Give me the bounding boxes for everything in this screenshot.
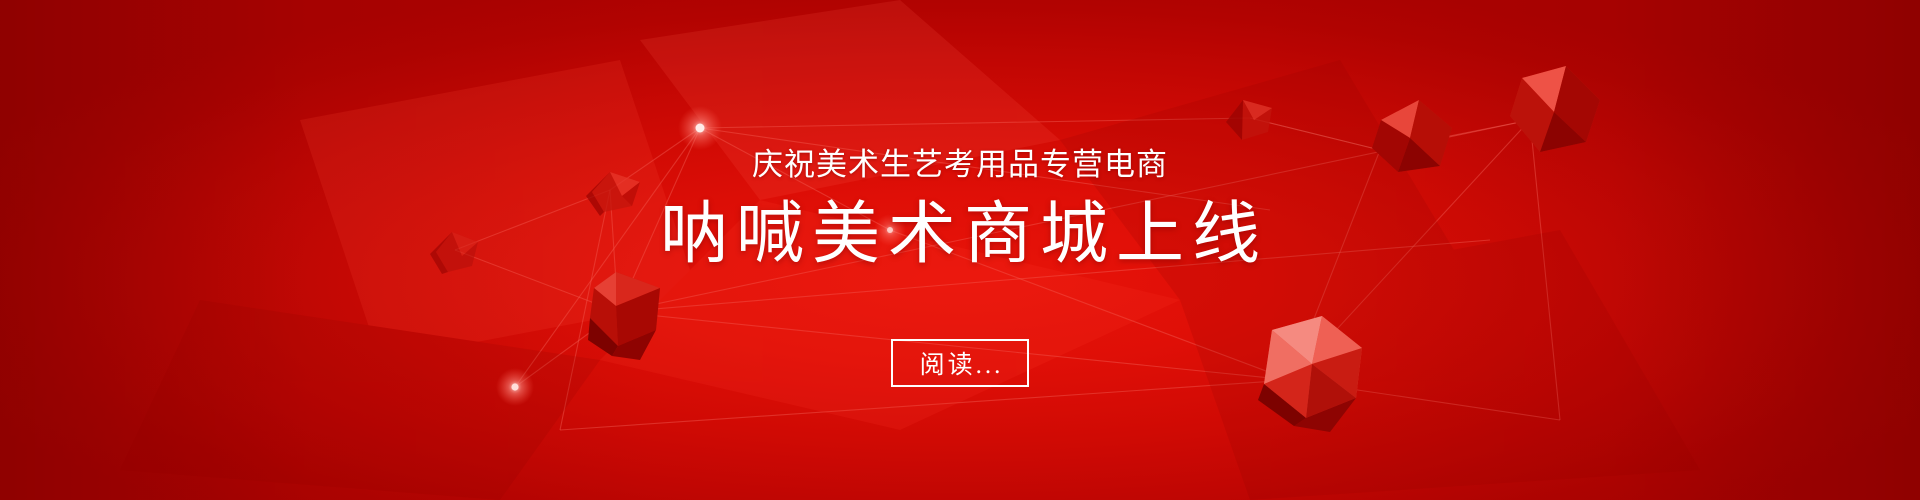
banner-subtitle: 庆祝美术生艺考用品专营电商: [752, 147, 1168, 183]
banner-content: 庆祝美术生艺考用品专营电商 呐喊美术商城上线 阅读...: [0, 0, 1920, 500]
banner-title: 呐喊美术商城上线: [652, 195, 1268, 273]
cta-container: 阅读...: [891, 339, 1029, 387]
promo-banner: 庆祝美术生艺考用品专营电商 呐喊美术商城上线 阅读...: [0, 0, 1920, 500]
read-more-button[interactable]: 阅读...: [891, 339, 1029, 387]
